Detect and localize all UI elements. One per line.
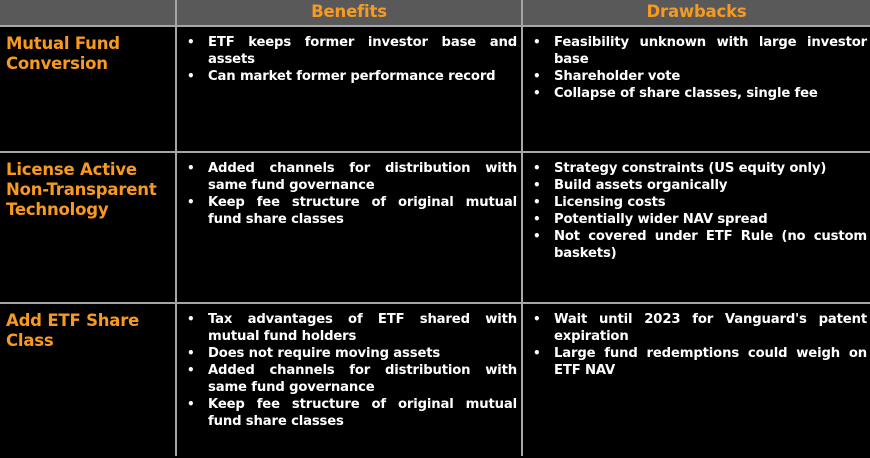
list-item: Tax advantages of ETF shared with mutual… [186, 311, 517, 345]
list-item-text: Collapse of share classes, single fee [554, 86, 818, 101]
table-row: Add ETF Share Class Tax advantages of ET… [0, 304, 870, 456]
list-item-text: Can market former performance record [208, 69, 495, 84]
list-item-text: Keep fee structure of original mutual fu… [208, 397, 517, 429]
drawbacks-list: Feasibility unknown with large investor … [532, 34, 867, 102]
list-item: Licensing costs [532, 194, 867, 211]
list-item: Feasibility unknown with large investor … [532, 34, 867, 68]
list-item: Added channels for distribution with sam… [186, 160, 517, 194]
list-item: Strategy constraints (US equity only) [532, 160, 867, 177]
list-item: Shareholder vote [532, 68, 867, 85]
category-label: Add ETF Share Class [6, 311, 171, 351]
list-item-text: Shareholder vote [554, 69, 680, 84]
table-row: Mutual Fund Conversion ETF keeps former … [0, 27, 870, 153]
list-item-text: Keep fee structure of original mutual fu… [208, 195, 517, 227]
list-item-text: Large fund redemptions could weigh on ET… [554, 346, 867, 378]
list-item: Added channels for distribution with sam… [186, 362, 517, 396]
drawbacks-list: Strategy constraints (US equity only) Bu… [532, 160, 867, 262]
list-item-text: Feasibility unknown with large investor … [554, 35, 867, 67]
header-cell-benefits: Benefits [175, 0, 521, 25]
list-item: Keep fee structure of original mutual fu… [186, 194, 517, 228]
list-item-text: Added channels for distribution with sam… [208, 363, 517, 395]
row-drawbacks-cell: Strategy constraints (US equity only) Bu… [521, 153, 870, 302]
row-benefits-cell: Added channels for distribution with sam… [175, 153, 521, 302]
list-item-text: Licensing costs [554, 195, 666, 210]
list-item-text: Added channels for distribution with sam… [208, 161, 517, 193]
list-item: Not covered under ETF Rule (no custom ba… [532, 228, 867, 262]
row-drawbacks-cell: Wait until 2023 for Vanguard's patent ex… [521, 304, 870, 456]
list-item: Keep fee structure of original mutual fu… [186, 396, 517, 430]
list-item-text: Strategy constraints (US equity only) [554, 161, 826, 176]
row-drawbacks-cell: Feasibility unknown with large investor … [521, 27, 870, 151]
list-item-text: Not covered under ETF Rule (no custom ba… [554, 229, 867, 261]
list-item-text: Potentially wider NAV spread [554, 212, 768, 227]
benefits-list: Added channels for distribution with sam… [186, 160, 517, 228]
row-benefits-cell: Tax advantages of ETF shared with mutual… [175, 304, 521, 456]
list-item: Can market former performance record [186, 68, 517, 85]
table-header-row: Benefits Drawbacks [0, 0, 870, 27]
list-item-text: Build assets organically [554, 178, 727, 193]
category-label: License Active Non-Transparent Technolog… [6, 160, 171, 220]
comparison-table: Benefits Drawbacks Mutual Fund Conversio… [0, 0, 870, 458]
list-item-text: ETF keeps former investor base and asset… [208, 35, 517, 67]
list-item: Collapse of share classes, single fee [532, 85, 867, 102]
list-item: Does not require moving assets [186, 345, 517, 362]
header-cell-drawbacks: Drawbacks [521, 0, 870, 25]
list-item: Wait until 2023 for Vanguard's patent ex… [532, 311, 867, 345]
list-item-text: Does not require moving assets [208, 346, 440, 361]
list-item: ETF keeps former investor base and asset… [186, 34, 517, 68]
row-category-cell: License Active Non-Transparent Technolog… [0, 153, 175, 302]
list-item: Build assets organically [532, 177, 867, 194]
benefits-list: ETF keeps former investor base and asset… [186, 34, 517, 85]
row-category-cell: Add ETF Share Class [0, 304, 175, 456]
header-cell-category [0, 0, 175, 25]
table-row: License Active Non-Transparent Technolog… [0, 153, 870, 304]
list-item: Large fund redemptions could weigh on ET… [532, 345, 867, 379]
drawbacks-list: Wait until 2023 for Vanguard's patent ex… [532, 311, 867, 379]
list-item-text: Tax advantages of ETF shared with mutual… [208, 312, 517, 344]
list-item: Potentially wider NAV spread [532, 211, 867, 228]
row-category-cell: Mutual Fund Conversion [0, 27, 175, 151]
list-item-text: Wait until 2023 for Vanguard's patent ex… [554, 312, 867, 344]
benefits-list: Tax advantages of ETF shared with mutual… [186, 311, 517, 430]
row-benefits-cell: ETF keeps former investor base and asset… [175, 27, 521, 151]
category-label: Mutual Fund Conversion [6, 34, 171, 74]
